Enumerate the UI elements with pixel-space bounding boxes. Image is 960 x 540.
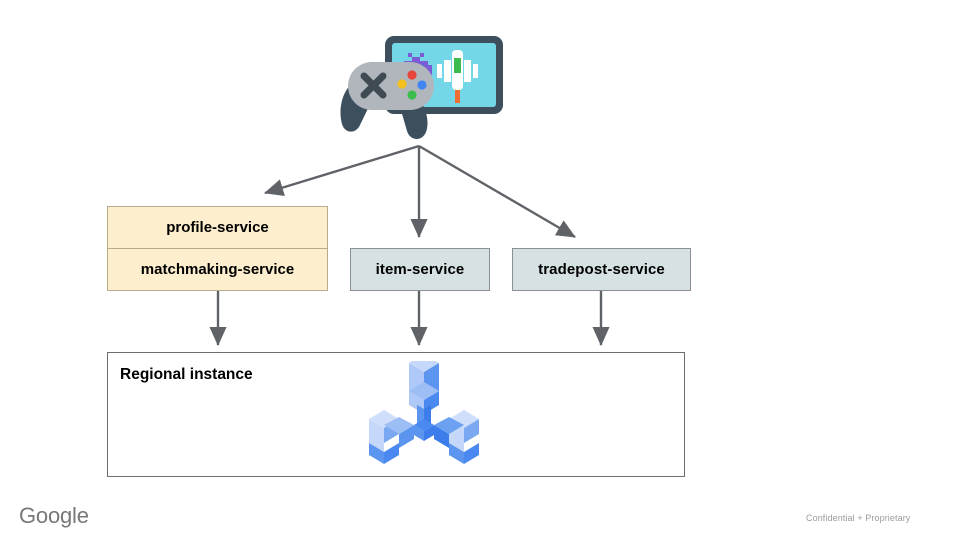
- profile-matchmaking-stack[interactable]: profile-service matchmaking-service: [107, 206, 328, 291]
- arrow-client-to-profile: [265, 146, 419, 193]
- confidentiality-note: Confidential + Proprietary: [806, 513, 910, 523]
- regional-instance-label: Regional instance: [120, 366, 253, 384]
- node-tradepost-service[interactable]: tradepost-service: [512, 248, 691, 291]
- gamepad-overlay: [336, 28, 512, 150]
- node-profile-service[interactable]: profile-service: [108, 207, 327, 249]
- arrow-client-to-tradepost: [419, 146, 575, 237]
- slide-canvas: profile-service matchmaking-service item…: [0, 0, 960, 540]
- node-item-service[interactable]: item-service: [350, 248, 490, 291]
- gamepad-icon: [336, 28, 512, 150]
- gke-kubernetes-engine-icon: [363, 361, 485, 465]
- node-matchmaking-service[interactable]: matchmaking-service: [108, 249, 327, 290]
- google-logo: Google: [19, 505, 89, 527]
